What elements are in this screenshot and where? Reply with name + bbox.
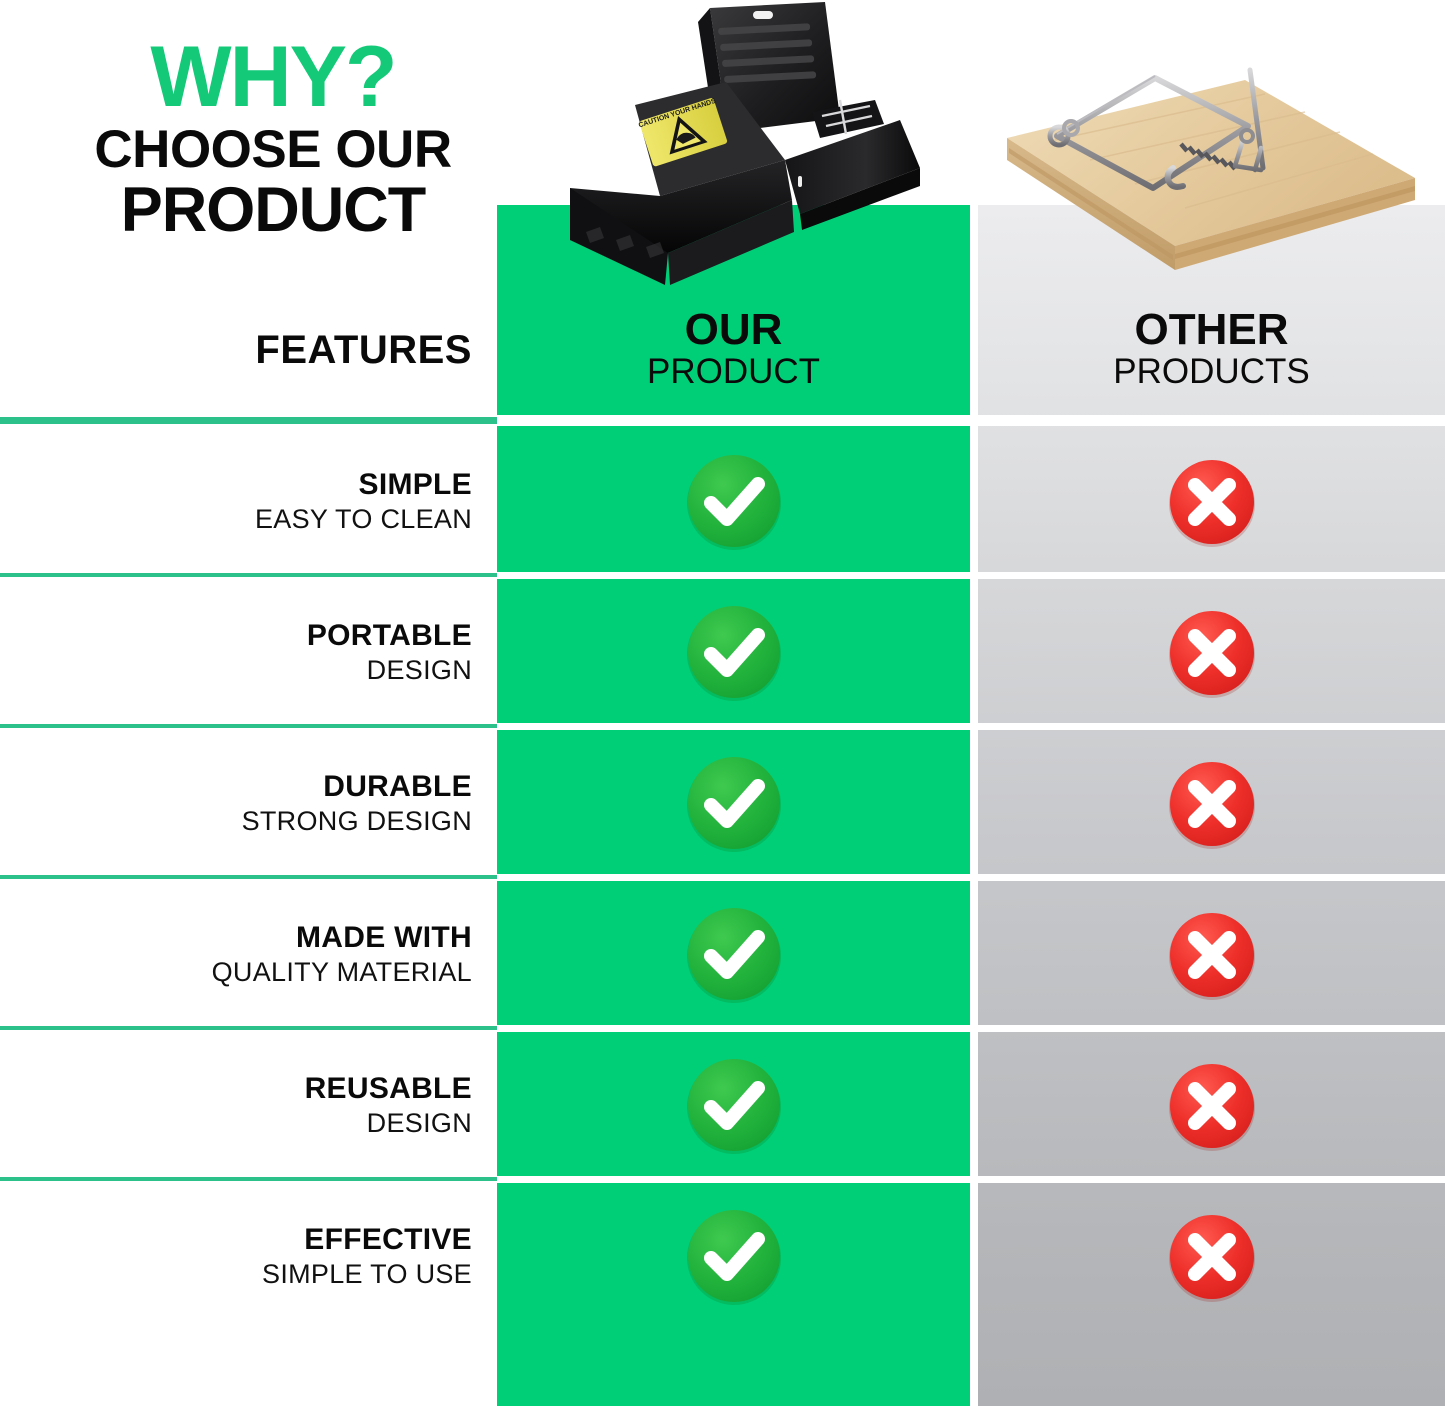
our-product-cell bbox=[497, 577, 970, 728]
our-product-cell bbox=[497, 728, 970, 879]
cross-circle-icon bbox=[1162, 905, 1262, 1005]
feature-cell: SIMPLE EASY TO CLEAN bbox=[0, 426, 497, 577]
other-products-cell bbox=[978, 879, 1445, 1030]
other-header-sub: PRODUCTS bbox=[1113, 352, 1309, 391]
our-header-main: OUR bbox=[685, 308, 783, 352]
our-product-cell bbox=[497, 426, 970, 577]
page-title: WHY? CHOOSE OUR PRODUCT bbox=[58, 38, 488, 242]
feature-cell: MADE WITH QUALITY MATERIAL bbox=[0, 879, 497, 1030]
feature-subtitle: STRONG DESIGN bbox=[242, 805, 472, 838]
feature-cell: EFFECTIVE SIMPLE TO USE bbox=[0, 1181, 497, 1332]
feature-subtitle: QUALITY MATERIAL bbox=[212, 956, 472, 989]
feature-subtitle: EASY TO CLEAN bbox=[255, 503, 472, 536]
our-product-image: CAUTION YOUR HANDS bbox=[540, 0, 925, 290]
cross-circle-icon bbox=[1162, 1207, 1262, 1307]
title-line-choose: CHOOSE OUR bbox=[58, 122, 488, 178]
feature-cell: DURABLE STRONG DESIGN bbox=[0, 728, 497, 879]
cross-circle-icon bbox=[1162, 452, 1262, 552]
features-header-label: FEATURES bbox=[255, 328, 472, 373]
check-circle-icon bbox=[680, 1203, 788, 1311]
check-circle-icon bbox=[680, 750, 788, 858]
our-header-sub: PRODUCT bbox=[647, 352, 820, 391]
feature-title: REUSABLE bbox=[305, 1071, 472, 1106]
feature-title: PORTABLE bbox=[307, 618, 472, 653]
other-product-image bbox=[995, 8, 1440, 293]
feature-title: MADE WITH bbox=[296, 920, 472, 955]
header-divider bbox=[0, 417, 497, 424]
table-row: PORTABLE DESIGN bbox=[0, 577, 1445, 728]
table-row: DURABLE STRONG DESIGN bbox=[0, 728, 1445, 879]
table-row: MADE WITH QUALITY MATERIAL bbox=[0, 879, 1445, 1030]
comparison-infographic: CAUTION YOUR HANDS bbox=[0, 0, 1445, 1406]
other-products-cell bbox=[978, 426, 1445, 577]
table-header-row: FEATURES OUR PRODUCT OTHER PRODUCTS bbox=[0, 290, 1445, 410]
other-products-cell bbox=[978, 577, 1445, 728]
other-products-cell bbox=[978, 728, 1445, 879]
cross-circle-icon bbox=[1162, 603, 1262, 703]
other-products-cell bbox=[978, 1181, 1445, 1332]
check-circle-icon bbox=[680, 901, 788, 1009]
cross-circle-icon bbox=[1162, 754, 1262, 854]
our-product-column-header: OUR PRODUCT bbox=[497, 290, 970, 410]
other-products-cell bbox=[978, 1030, 1445, 1181]
our-product-cell bbox=[497, 1030, 970, 1181]
table-row: SIMPLE EASY TO CLEAN bbox=[0, 426, 1445, 577]
other-header-main: OTHER bbox=[1135, 308, 1289, 352]
feature-title: SIMPLE bbox=[359, 467, 472, 502]
check-circle-icon bbox=[680, 448, 788, 556]
check-circle-icon bbox=[680, 1052, 788, 1160]
header-divider-our bbox=[497, 415, 970, 426]
feature-title: EFFECTIVE bbox=[304, 1222, 472, 1257]
feature-subtitle: SIMPLE TO USE bbox=[262, 1258, 472, 1291]
other-products-column-header: OTHER PRODUCTS bbox=[978, 290, 1445, 410]
cross-circle-icon bbox=[1162, 1056, 1262, 1156]
feature-title: DURABLE bbox=[323, 769, 472, 804]
feature-subtitle: DESIGN bbox=[367, 1107, 472, 1140]
table-row: EFFECTIVE SIMPLE TO USE bbox=[0, 1181, 1445, 1332]
title-line-why: WHY? bbox=[58, 38, 488, 118]
table-row: REUSABLE DESIGN bbox=[0, 1030, 1445, 1181]
feature-cell: PORTABLE DESIGN bbox=[0, 577, 497, 728]
features-column-header: FEATURES bbox=[0, 290, 497, 410]
feature-subtitle: DESIGN bbox=[367, 654, 472, 687]
title-line-product: PRODUCT bbox=[58, 179, 488, 242]
comparison-rows: SIMPLE EASY TO CLEAN bbox=[0, 426, 1445, 1332]
our-product-cell bbox=[497, 879, 970, 1030]
check-circle-icon bbox=[680, 599, 788, 707]
feature-cell: REUSABLE DESIGN bbox=[0, 1030, 497, 1181]
header-divider-other bbox=[978, 415, 1445, 426]
our-product-cell bbox=[497, 1181, 970, 1332]
